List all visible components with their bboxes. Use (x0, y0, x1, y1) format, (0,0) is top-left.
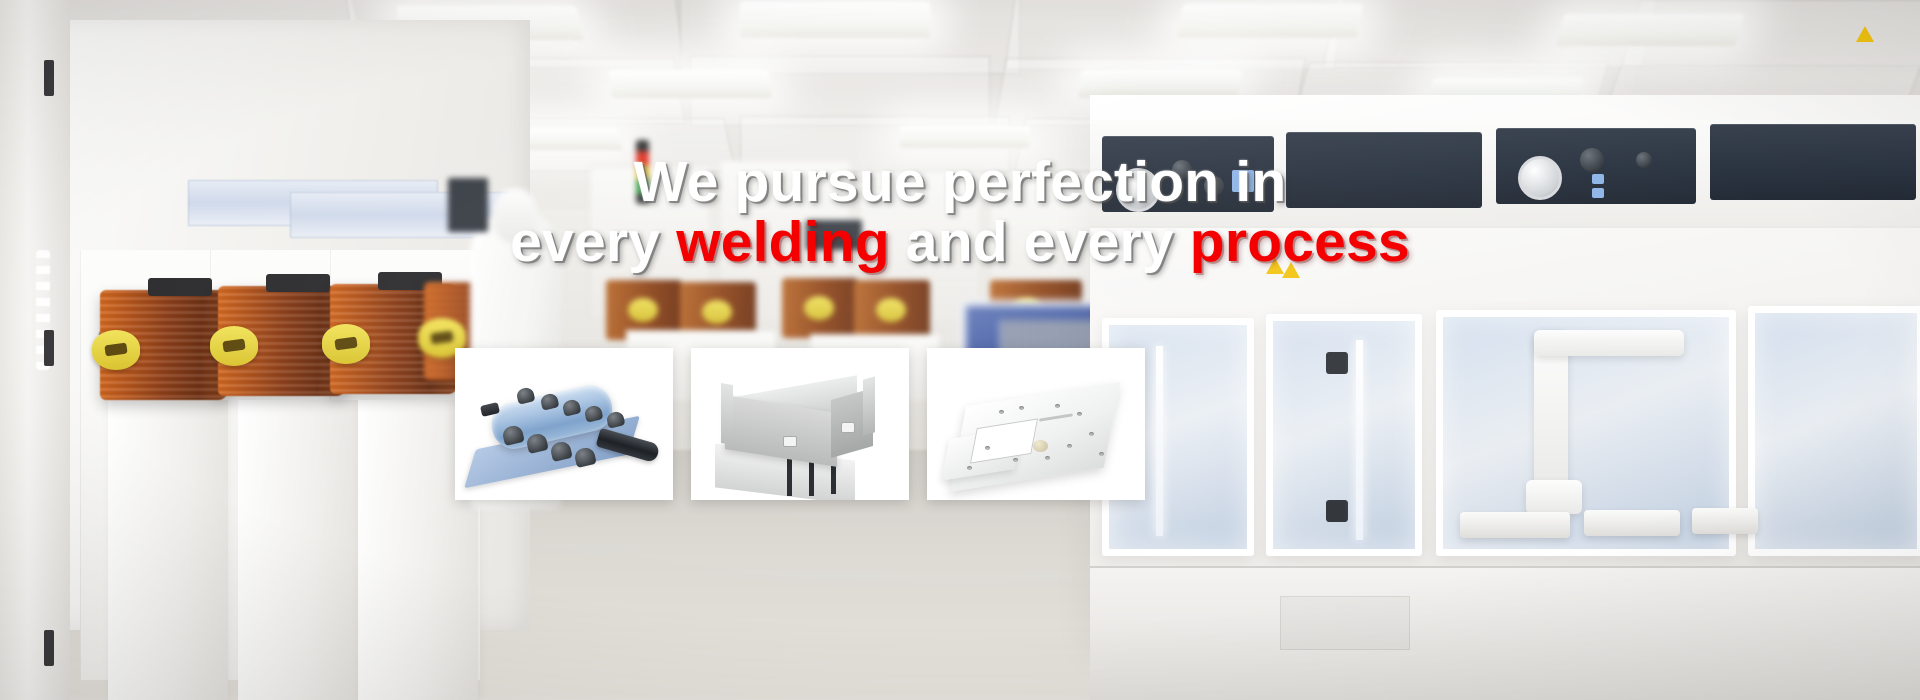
enclosure-right-lip (863, 376, 875, 435)
headline-highlight-welding: welding (676, 210, 890, 274)
grey-enclosure-illustration (691, 348, 909, 500)
ceiling-light (608, 70, 772, 98)
machine-pedestal (108, 400, 228, 700)
base-plate-illustration (927, 348, 1145, 500)
plate-hole (999, 410, 1004, 414)
machine-base (1090, 566, 1920, 700)
warning-triangle-icon (1856, 26, 1874, 42)
plate-hole (1055, 404, 1060, 408)
door-handle-top (44, 60, 54, 96)
enclosure-leg (787, 456, 792, 496)
light-tube (1156, 346, 1163, 536)
hero-banner: We pursue perfection in every welding an… (0, 0, 1920, 700)
enclosure-clip (783, 436, 797, 447)
product-card-grey-enclosure[interactable] (691, 348, 909, 500)
product-card-strip (455, 348, 1145, 500)
coil-yellow-handle (322, 324, 370, 364)
coil-top-block (266, 274, 330, 292)
far-coil-unit (854, 280, 930, 340)
door-handle-mid (44, 330, 54, 366)
plate-center-boss (1033, 440, 1048, 452)
blue-manifold-illustration (455, 348, 673, 500)
headline-text-every-1: every (510, 210, 676, 274)
plate-hole (967, 466, 972, 470)
far-coil-unit (782, 278, 858, 338)
light-tube (1356, 340, 1363, 540)
plate-hole (1019, 406, 1024, 410)
coil-yellow-handle (210, 326, 258, 366)
plate-hole (1077, 412, 1082, 416)
headline-text-and-every: and every (890, 210, 1190, 274)
door-hinge (1326, 352, 1348, 374)
plate-hole (1089, 432, 1094, 436)
headline-block: We pursue perfection in every welding an… (0, 152, 1920, 273)
robot-arm-horizontal (1534, 330, 1684, 356)
plate-hole (1099, 452, 1104, 456)
enclosure-left-lip (721, 383, 733, 445)
enclosure-clip (841, 422, 855, 433)
coil-top-block (148, 278, 212, 296)
conveyor-tray (1460, 512, 1570, 538)
ceiling-light (740, 2, 930, 38)
headline-line-1: We pursue perfection in (0, 152, 1920, 212)
machine-pedestal (238, 400, 358, 700)
product-card-base-plate[interactable] (927, 348, 1145, 500)
plate-hole (985, 446, 990, 450)
door-handle-bottom (44, 630, 54, 666)
conveyor-tray (1584, 510, 1680, 536)
conveyor-tray (1692, 508, 1758, 534)
headline-highlight-process: process (1190, 210, 1410, 274)
coil-yellow-handle (92, 330, 140, 370)
cabinet-door (0, 0, 70, 700)
plate-hole (1067, 444, 1072, 448)
door-hinge (1326, 500, 1348, 522)
headline-line-2: every welding and every process (0, 212, 1920, 272)
plate-hole (1013, 458, 1018, 462)
robot-gripper (1526, 480, 1582, 514)
base-access-hatch (1280, 596, 1410, 650)
safety-glass-enclosure (1748, 306, 1920, 556)
product-card-blue-manifold[interactable] (455, 348, 673, 500)
plate-hole (1045, 456, 1050, 460)
